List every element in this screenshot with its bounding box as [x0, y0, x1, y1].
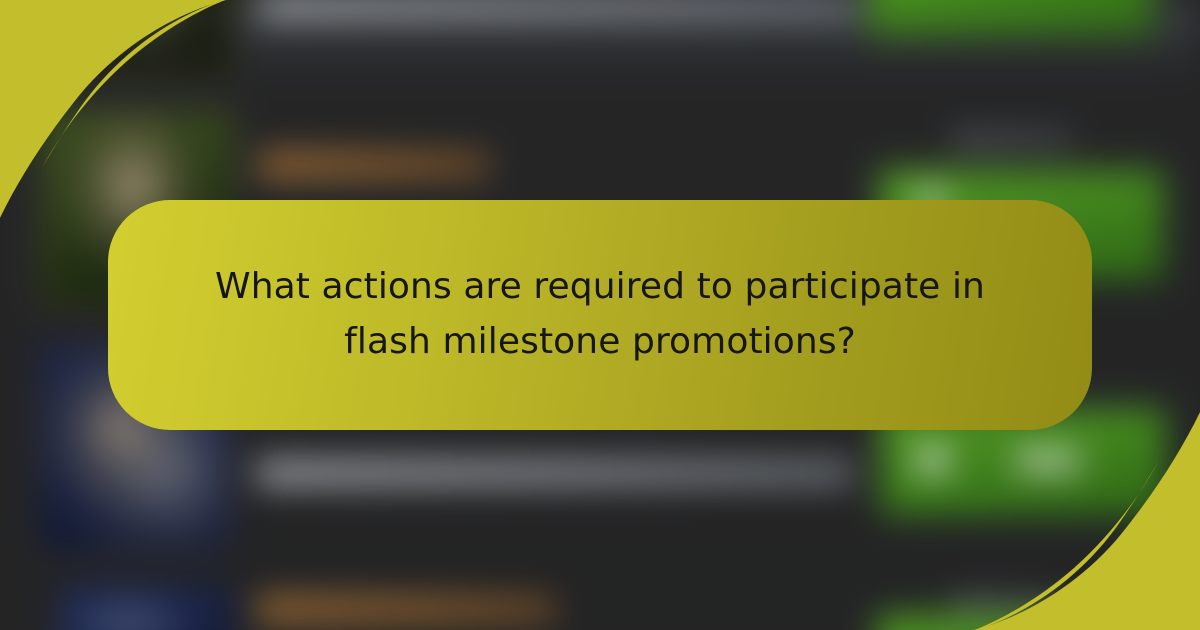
- question-text: What actions are required to participate…: [210, 260, 990, 369]
- question-card-graphic: What actions are required to participate…: [0, 0, 1200, 630]
- question-card: What actions are required to participate…: [108, 200, 1092, 430]
- background-text-row: [256, 460, 854, 486]
- background-button: [876, 614, 1162, 630]
- background-text-row: [258, 0, 858, 18]
- background-thumbnail: [58, 586, 234, 630]
- background-button: [868, 0, 1154, 36]
- background-caption: [950, 132, 1074, 148]
- background-text-row: [258, 152, 490, 178]
- background-caption: [950, 596, 1068, 612]
- background-thumbnail: [44, 0, 234, 72]
- background-text-row: [256, 596, 556, 622]
